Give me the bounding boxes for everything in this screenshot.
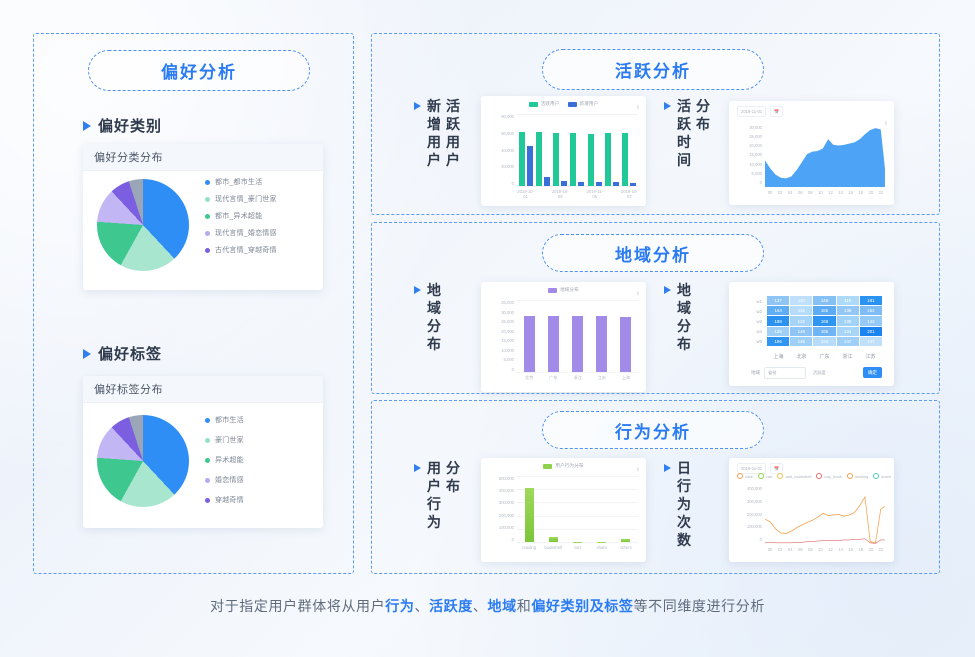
x-tick: 2019-11-05 [586,189,603,201]
heatmap-row: 137 110 146 119 181 [767,296,882,305]
plot-area [517,114,638,186]
legend-dot-icon [205,498,210,503]
y-tick: 100,000 [747,524,762,529]
legend-dot-icon [205,478,210,483]
legend-dot-icon [205,248,210,253]
area-series [765,125,886,187]
y-label: w3 [756,319,765,324]
x-tick: 14 [836,547,846,559]
caption-part-2: 等不同维度进行分析 [634,598,765,614]
caption-keyword-preference: 偏好类别及标签 [531,598,633,614]
legend-item: 都市生活 [205,415,244,425]
legend-dot-icon [205,231,210,236]
y-axis: 35,000 30,000 25,000 20,000 15,000 10,00… [486,300,514,372]
heatmap-cell[interactable]: 135 [767,327,789,336]
bar-group [552,114,569,186]
plot-area [517,476,638,542]
y-tick: 25,000 [501,319,514,324]
vertical-text-group: 新增用户 活跃用户 [427,98,460,170]
y-tick: 35,000 [501,300,514,305]
gridline [517,186,638,187]
heatmap-row: 188 132 168 130 142 [767,316,882,325]
x-tick: 10 [815,547,825,559]
heatmap-cell[interactable]: 168 [813,316,835,325]
bar-group [621,114,638,186]
y-tick: 200,000 [499,513,514,518]
legend-item: 活跃用户 [529,101,560,107]
x-tick: 10 [815,190,825,202]
x-tick: 20 [866,190,876,202]
y-tick: 10,000 [749,162,762,167]
bar-group [603,114,620,186]
vertical-label-distribution: 分布 [446,460,460,532]
bar-group [614,300,638,372]
heading-preference-category: 偏好类别 [83,115,162,136]
date-value[interactable]: 2019-11-01 [737,106,766,117]
y-tick: 20,000 [501,164,514,169]
y-axis: 30,000 25,000 20,000 15,000 10,000 5,000… [734,125,762,185]
caption-keyword-region: 地域 [488,598,517,614]
heatmap-cell[interactable]: 166 [813,327,835,336]
y-tick: 0 [760,180,762,185]
heatmap-cell[interactable]: 188 [767,316,789,325]
heatmap-cell[interactable]: 110 [790,296,812,305]
caption-sep-3: 和 [517,598,532,614]
card-body: 都市生活 豪门世家 异术超能 婚恋情感 穿越奇情 [83,403,323,528]
y-tick: 40,000 [501,148,514,153]
x-tick: 2019-10-07 [621,189,638,201]
x-tick: 04 [785,547,795,559]
label-new-and-active-users: 新增用户 活跃用户 [414,98,460,170]
bar-group [517,476,541,542]
date-filter[interactable]: 2019-11-01 📅 [737,106,783,117]
y-label: w4 [756,329,765,334]
heatmap-cell[interactable]: 142 [860,316,882,325]
legend-item: 新增用户 [568,101,599,107]
y-label: w2 [756,309,765,314]
triangle-bullet-icon [664,102,671,110]
legend-label: 用户行为分布 [555,463,583,469]
x-tick: 08 [805,190,815,202]
line-series [765,486,886,544]
x-tick: 08 [805,547,815,559]
legend-swatch-icon [548,288,557,293]
legend-dot-icon [205,180,210,185]
x-tick: 06 [795,190,805,202]
x-label: 广东 [813,353,836,360]
x-tick: others [614,545,638,557]
vertical-label-new-users: 新增用户 [427,98,441,170]
legend-item[interactable]: reading [847,473,868,479]
legend-label: click [745,474,753,479]
card-title: 偏好分类分布 [83,144,323,171]
y-tick: 20,000 [749,143,762,148]
x-tick: 16 [846,547,856,559]
x-tick: 00 [765,547,775,559]
y-tick: 100,000 [499,525,514,530]
x-tick: reading [517,545,541,557]
legend-item[interactable]: add_bookshelf [777,473,811,479]
triangle-bullet-icon [414,102,421,110]
x-tick: 上海 [614,375,638,387]
legend-item: 现代言情_婚恋情感 [205,228,277,238]
label-daily-behavior-count: 日行为次数 [664,460,691,550]
metric-select[interactable]: 活跃度 [810,368,850,378]
x-tick [603,189,620,201]
caption-keyword-behavior: 行为 [385,598,414,614]
y-tick: 15,000 [501,338,514,343]
triangle-bullet-icon [83,349,91,359]
triangle-bullet-icon [83,121,91,131]
y-tick: 30,000 [501,310,514,315]
bar-group [614,476,638,542]
x-tick: 02 [775,547,785,559]
bar-group [586,114,603,186]
x-label: 江苏 [859,353,882,360]
legend-label: 异术超能 [215,455,244,465]
chart-legend: 地域分布 [481,287,646,293]
y-tick: 0 [760,537,762,542]
legend-item[interactable]: share [873,473,891,479]
badge-preference-analysis: 偏好分析 [88,50,310,91]
y-label: w5 [756,339,765,344]
bar-group [590,476,614,542]
y-tick: 400,000 [747,486,762,491]
pie-legend-preference-category: 都市_都市生活 现代言情_豪门世家 都市_异术超能 现代言情_婚恋情感 古代言情… [205,177,277,255]
legend-item: 穿越奇情 [205,495,244,505]
gridline [517,372,638,373]
region-select[interactable]: 省份 [764,367,806,379]
legend-item: 都市_异术超能 [205,211,277,221]
legend-label: 婚恋情感 [215,475,244,485]
heatmap-row: 164 116 165 139 152 [767,306,882,315]
y-axis: 400,000 300,000 200,000 100,000 0 [734,486,762,542]
card-preference-category-distribution: 偏好分类分布 都市_都市生活 现代言情_豪门世家 都市_异术超能 [83,144,323,290]
chart-user-behavior-bar: 用户行为分布 ⭳ 500,000 400,000 300,000 200,000… [481,458,646,562]
y-tick: 15,000 [749,152,762,157]
x-tick [534,189,551,201]
legend-dot-icon [205,438,210,443]
heatmap-cell[interactable]: 149 [790,327,812,336]
footer-caption: 对于指定用户群体将从用户行为、活跃度、地域和偏好类别及标签等不同维度进行分析 [0,596,975,616]
badge-active-analysis: 活跃分析 [542,49,764,90]
legend-item: 婚恋情感 [205,475,244,485]
legend-item: 用户行为分布 [543,463,583,469]
vertical-label-daily-behavior-count: 日行为次数 [677,460,691,550]
heatmap-cell[interactable]: 137 [767,296,789,305]
heatmap-cell[interactable]: 181 [860,296,882,305]
gridline [517,542,638,543]
legend-label: 穿越奇情 [215,495,244,505]
pie-chart-preference-tag [97,415,193,515]
legend-item[interactable]: click [737,473,753,479]
x-tick: 12 [825,547,835,559]
x-label: 上海 [767,353,790,360]
x-tick: 北京 [517,375,541,387]
legend-dot-icon [205,418,210,423]
legend-swatch-icon [529,102,538,107]
x-tick: 18 [856,190,866,202]
bar-group [569,114,586,186]
legend-label: 都市_都市生活 [215,177,262,187]
legend-dot-icon [205,458,210,463]
x-tick: 14 [836,190,846,202]
x-tick: 2019-10-01 [517,189,534,201]
caption-part-1: 对于指定用户群体将从用户 [210,598,385,614]
control-label: 地域 [751,370,760,376]
chart-legend: click cart add_bookshelf buy_book readin… [737,471,886,481]
x-tick: 20 [866,547,876,559]
y-label: w1 [756,299,765,304]
infographic-stage: 偏好分析 偏好类别 偏好分类分布 都市_都市生活 现代言情_豪门世家 [0,0,975,657]
x-tick: 04 [785,190,795,202]
x-tick: 06 [795,547,805,559]
y-tick: 30,000 [749,125,762,130]
download-icon[interactable]: ⭳ [637,465,639,475]
card-body: 都市_都市生活 现代言情_豪门世家 都市_异术超能 现代言情_婚恋情感 古代言情… [83,171,323,290]
y-tick: 5,000 [752,171,762,176]
legend-label: add_bookshelf [785,474,811,479]
legend-item[interactable]: cart [758,473,773,479]
plot-area [765,486,886,544]
x-tick: 2019-10-08 [552,189,569,201]
bar-series [517,300,638,372]
triangle-bullet-icon [414,286,421,294]
y-tick: 10,000 [501,348,514,353]
legend-swatch-icon [543,464,552,469]
heatmap-cell[interactable]: 201 [860,327,882,336]
chart-legend: 用户行为分布 [481,463,646,469]
vertical-label-active-users: 活跃用户 [446,98,460,170]
y-axis: 80,000 60,000 40,000 20,000 0 [486,114,514,186]
bar-group [541,476,565,542]
legend-dot-icon [205,197,210,202]
y-tick: 300,000 [499,500,514,505]
bar-group [590,300,614,372]
x-axis: 北京 广东 浙江 江苏 上海 [517,375,638,387]
legend-item: 古代言情_穿越奇情 [205,245,277,255]
y-tick: 500,000 [499,476,514,481]
x-tick: 16 [846,190,856,202]
legend-label: 古代言情_穿越奇情 [215,245,277,255]
chart-region-heatmap: w1 w2 w3 w4 w5 137 110 146 119 181 164 1… [729,282,894,386]
y-tick: 0 [512,367,514,372]
label-user-behavior-distribution: 用户行为 分布 [414,460,460,532]
pie-legend-preference-tag: 都市生活 豪门世家 异术超能 婚恋情感 穿越奇情 [205,415,244,505]
download-icon[interactable]: ⭳ [637,289,639,299]
heatmap-row: 196 145 134 147 137 [767,337,882,346]
caption-sep-2: 、 [473,598,488,614]
legend-item: 豪门世家 [205,435,244,445]
pie-slices [97,179,189,271]
download-icon[interactable]: ⭳ [637,103,639,113]
caption-sep-1: 、 [414,598,429,614]
legend-item: 现代言情_豪门世家 [205,194,277,204]
heatmap-cell[interactable]: 119 [837,296,859,305]
legend-label: 现代言情_婚恋情感 [215,228,277,238]
plot-area [765,125,886,187]
x-tick: 广东 [541,375,565,387]
legend-label: cart [766,474,773,479]
bar-group [517,300,541,372]
legend-label: 地域分布 [560,287,579,293]
legend-label: share [881,474,891,479]
y-tick: 80,000 [501,114,514,119]
x-tick: 江苏 [590,375,614,387]
vertical-label-distribution: 分布 [696,98,710,170]
heatmap-grid: 137 110 146 119 181 164 116 165 139 152 … [767,296,882,346]
heatmap-cell[interactable]: 134 [837,327,859,336]
legend-dot-icon [205,214,210,219]
x-tick: 22 [876,547,886,559]
heatmap-cell[interactable]: 147 [837,337,859,346]
bar-group [565,476,589,542]
legend-item: 都市_都市生活 [205,177,277,187]
card-preference-tag-distribution: 偏好标签分布 都市生活 豪门世家 异术超能 [83,376,323,528]
y-tick: 0 [512,181,514,186]
calendar-icon[interactable]: 📅 [770,106,783,117]
chart-legend: 活跃用户 新增用户 [481,101,646,107]
bar-series [517,476,638,542]
legend-item[interactable]: buy_book [816,473,841,479]
legend-label: 活跃用户 [541,101,560,107]
y-tick: 200,000 [747,512,762,517]
badge-behavior-analysis: 行为分析 [542,411,764,449]
x-tick: 00 [765,190,775,202]
heatmap-row: 135 149 166 134 201 [767,327,882,336]
y-tick: 400,000 [499,488,514,493]
legend-label: buy_book [824,474,841,479]
heading-label: 偏好类别 [98,115,162,136]
legend-label: 豪门世家 [215,435,244,445]
x-axis: reading bookshelf cart share others [517,545,638,557]
y-tick: 0 [512,537,514,542]
x-tick: 18 [856,547,866,559]
vertical-text-group: 活跃时间 分布 [677,98,710,170]
x-tick: 12 [825,190,835,202]
heatmap-x-labels: 上海 北京 广东 浙江 江苏 [767,353,882,360]
x-axis: 2019-10-01 2019-10-08 2019-11-05 2019-10… [517,189,638,201]
bar-group [565,300,589,372]
legend-swatch-icon [568,102,577,107]
x-axis: 00 02 04 06 08 10 12 14 16 18 20 22 [765,190,886,202]
x-tick: cart [565,545,589,557]
triangle-bullet-icon [664,286,671,294]
plot-area [517,300,638,372]
heading-preference-tag: 偏好标签 [83,343,162,364]
x-tick: 浙江 [565,375,589,387]
vertical-label-active-time: 活跃时间 [677,98,691,170]
bar-group [541,300,565,372]
y-tick: 60,000 [501,131,514,136]
legend-item: 地域分布 [548,287,579,293]
y-tick: 25,000 [749,134,762,139]
y-tick: 5,000 [504,357,514,362]
chart-new-active-users-bar: 活跃用户 新增用户 ⭳ 80,000 60,000 40,000 20,000 … [481,96,646,206]
heatmap-controls: 地域 省份 活跃度 确定 [751,366,882,379]
legend-label: 都市_异术超能 [215,211,262,221]
legend-label: reading [855,474,868,479]
legend-label: 现代言情_豪门世家 [215,194,277,204]
heatmap-cell[interactable]: 132 [790,316,812,325]
x-tick: share [590,545,614,557]
pie-chart-preference-category [97,179,193,279]
vertical-label-region-distribution: 地域分布 [427,282,441,354]
vertical-label-region-distribution: 地域分布 [677,282,691,354]
x-axis: 00 02 04 06 08 10 12 14 16 18 20 22 [765,547,886,559]
vertical-text-group: 用户行为 分布 [427,460,460,532]
heatmap-cell[interactable]: 130 [837,316,859,325]
card-title: 偏好标签分布 [83,376,323,403]
heatmap-cell[interactable]: 116 [790,306,812,315]
y-tick: 20,000 [501,329,514,334]
vertical-text-group: 地域分布 [427,282,441,354]
x-tick: bookshelf [541,545,565,557]
pie-slices [97,415,189,507]
legend-label: 都市生活 [215,415,244,425]
chart-region-bar: 地域分布 ⭳ 35,000 30,000 25,000 20,000 15,00… [481,282,646,392]
heatmap-cell[interactable]: 165 [813,306,835,315]
x-label: 浙江 [836,353,859,360]
heatmap-cell[interactable]: 146 [813,296,835,305]
heatmap-cell[interactable]: 134 [813,337,835,346]
vertical-text-group: 地域分布 [677,282,691,354]
heatmap-y-labels: w1 w2 w3 w4 w5 [735,296,765,346]
bar-series [517,114,638,186]
y-tick: 300,000 [747,499,762,504]
legend-label: 新增用户 [580,101,599,107]
bar-group [534,114,551,186]
heatmap-cell[interactable]: 152 [860,306,882,315]
vertical-label-user-behavior: 用户行为 [427,460,441,532]
confirm-button[interactable]: 确定 [863,367,882,378]
x-tick [569,189,586,201]
badge-region-analysis: 地域分析 [542,234,764,272]
heading-label: 偏好标签 [98,343,162,364]
chart-active-time-area: 2019-11-01 📅 ⭳ 30,000 25,000 20,000 15,0… [729,101,894,205]
caption-keyword-activity: 活跃度 [429,598,473,614]
y-axis: 500,000 400,000 300,000 200,000 100,000 … [486,476,514,542]
legend-item: 异术超能 [205,455,244,465]
vertical-text-group: 日行为次数 [677,460,691,550]
triangle-bullet-icon [664,464,671,472]
heatmap-cell[interactable]: 137 [860,337,882,346]
heatmap-cell[interactable]: 164 [767,306,789,315]
label-active-time-distribution: 活跃时间 分布 [664,98,710,170]
chart-daily-behavior-line: 2019-11-01 📅 click cart add_bookshelf bu… [729,458,894,562]
x-tick: 22 [876,190,886,202]
heatmap-cell[interactable]: 145 [790,337,812,346]
heatmap-cell[interactable]: 196 [767,337,789,346]
bar-group [517,114,534,186]
x-tick: 02 [775,190,785,202]
label-region-distribution-left: 地域分布 [414,282,441,354]
heatmap-cell[interactable]: 139 [837,306,859,315]
label-region-distribution-right: 地域分布 [664,282,691,354]
x-label: 北京 [790,353,813,360]
triangle-bullet-icon [414,464,421,472]
